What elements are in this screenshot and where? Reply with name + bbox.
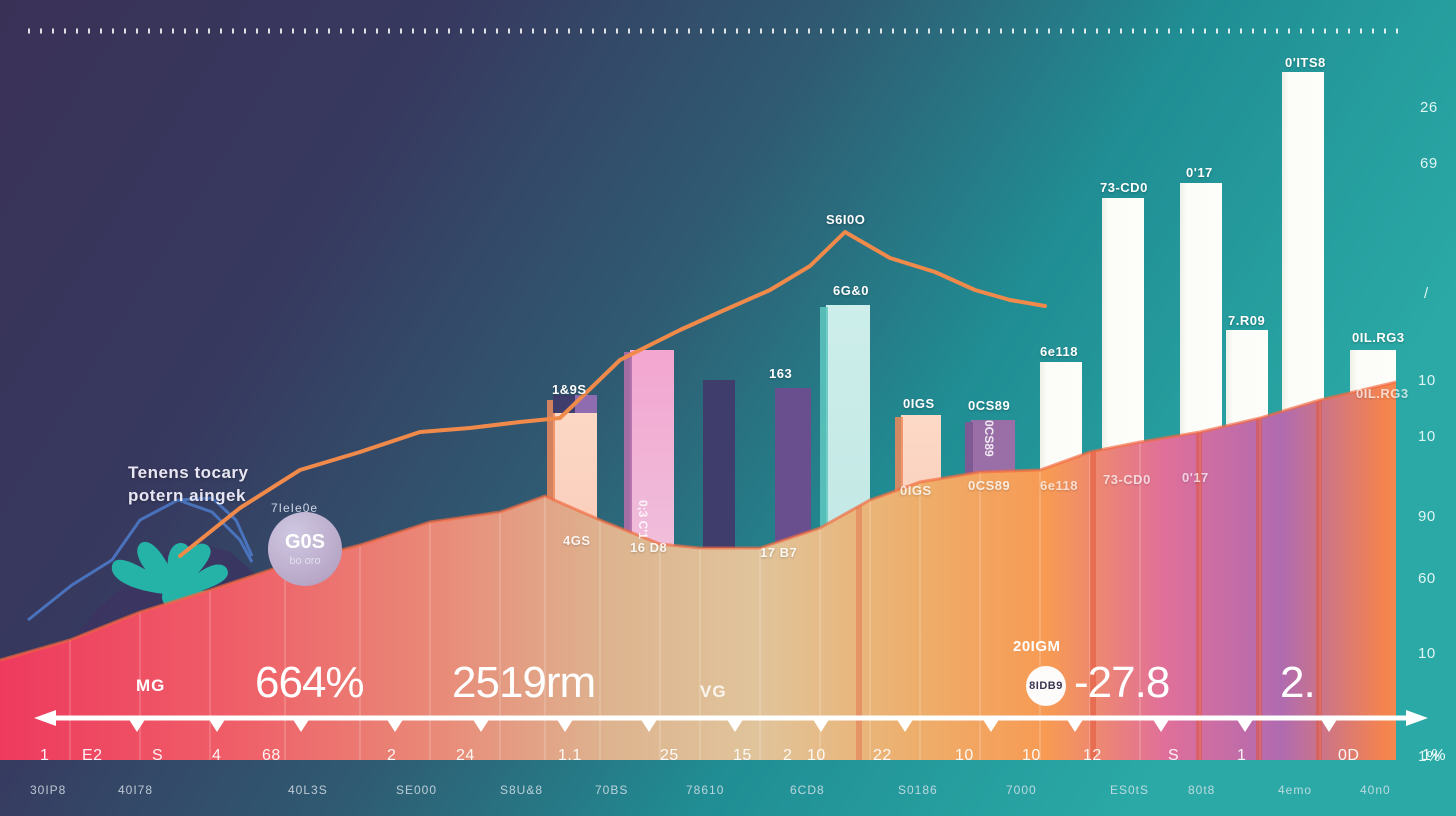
inline-badge-label: 8IDB9: [1029, 680, 1063, 692]
annotation-line-1: Tenens tocary: [128, 462, 249, 485]
axis-bottom-tick-0: 1: [40, 747, 49, 765]
axis-bottom-sublabel-6: 78610: [686, 783, 724, 797]
axis-right-tick-6: 60: [1418, 570, 1436, 587]
band-value-6: -27.8: [1074, 658, 1169, 708]
bar-label-7-vertical: 0CS89: [982, 420, 996, 457]
annotation-text: Tenens tocary potern aingek: [128, 462, 249, 508]
chart-canvas: Tenens tocary potern aingek 7IeIe0e G0S …: [0, 0, 1456, 816]
bar-base-label-8: 0'17: [1182, 470, 1209, 485]
bar-base-label-2: 16 D8: [630, 540, 667, 555]
kpi-badge[interactable]: G0S bo oro: [268, 512, 342, 586]
axis-bottom-sublabel-5: 70BS: [595, 783, 628, 797]
bottom-axis: [0, 0, 1456, 816]
bar-label-2-vertical: 0;3 C'1: [636, 500, 650, 539]
bar-base-label-9: 0IL.RG3: [1356, 386, 1409, 401]
bar-base-label-4: 0IGS: [900, 483, 932, 498]
axis-bottom-sublabel-1: 40I78: [118, 783, 153, 797]
axis-bottom-tick-16: S: [1168, 747, 1179, 765]
axis-bottom-tick-2: S: [152, 747, 163, 765]
axis-bottom-tick-8: 25: [660, 747, 679, 765]
bar-label-5: 6G&0: [833, 283, 869, 298]
axis-bottom-sublabel-12: 4emo: [1278, 783, 1312, 797]
bar-base-label-3: 17 B7: [760, 545, 797, 560]
axis-right-tick-7: 10: [1418, 645, 1436, 662]
axis-bottom-tick-4: 68: [262, 747, 281, 765]
band-value-4: VG: [700, 682, 727, 702]
axis-right-tick-3: 10: [1418, 372, 1436, 389]
axis-bottom-sublabel-8: S0186: [898, 783, 938, 797]
axis-bottom-tick-7: 1.1: [558, 747, 582, 765]
bar-label-7: 0CS89: [968, 398, 1010, 413]
bar-label-11: 7.R09: [1228, 313, 1265, 328]
axis-bottom-tick-13: 10: [955, 747, 974, 765]
bar-label-1: 1&9S: [552, 382, 587, 397]
bar-label-10: 0'17: [1186, 165, 1213, 180]
axis-bottom-tick-6: 24: [456, 747, 475, 765]
axis-bottom-sublabel-2: 40L3S: [288, 783, 328, 797]
axis-bottom-tick-12: 22: [873, 747, 892, 765]
kpi-badge-sub: bo oro: [289, 555, 320, 567]
axis-bottom-tick-3: 4: [212, 747, 221, 765]
bar-base-label-1: 4GS: [563, 533, 591, 548]
bar-label-8: 6e118: [1040, 344, 1078, 359]
axis-bottom-tick-18: 0D: [1338, 747, 1359, 765]
bar-label-6: 0IGS: [903, 396, 935, 411]
band-value-2: 664%: [255, 658, 364, 708]
axis-bottom-sublabel-7: 6CD8: [790, 783, 825, 797]
bar-label-13: 0IL.RG3: [1352, 330, 1405, 345]
bar-base-label-6: 6e118: [1040, 478, 1078, 493]
axis-bottom-tick-14: 10: [1022, 747, 1041, 765]
axis-bottom-sublabel-11: 80t8: [1188, 783, 1215, 797]
axis-right-tick-2: /: [1424, 285, 1429, 302]
axis-bottom-tick-19: 1%: [1422, 747, 1446, 765]
axis-bottom-sublabel-13: 40n0: [1360, 783, 1391, 797]
axis-bottom-tick-1: E2: [82, 747, 103, 765]
axis-bottom-tick-11: 10: [807, 747, 826, 765]
band-value-5: 20IGM: [1013, 638, 1061, 655]
bar-label-12: 0'ITS8: [1285, 55, 1326, 70]
inline-badge[interactable]: 8IDB9: [1026, 666, 1066, 706]
axis-right-tick-5: 90: [1418, 508, 1436, 525]
bar-base-label-5: 0CS89: [968, 478, 1010, 493]
kpi-badge-value: G0S: [285, 531, 325, 554]
axis-bottom-tick-5: 2: [387, 747, 396, 765]
annotation-line-2: potern aingek: [128, 485, 249, 508]
axis-bottom-tick-10: 2: [783, 747, 792, 765]
axis-right-tick-1: 69: [1420, 155, 1438, 172]
axis-bottom-sublabel-9: 7000: [1006, 783, 1037, 797]
axis-right-tick-0: 26: [1420, 99, 1438, 116]
axis-right-tick-4: 10: [1418, 428, 1436, 445]
axis-bottom-sublabel-4: S8U&8: [500, 783, 543, 797]
axis-bottom-tick-17: 1: [1237, 747, 1246, 765]
bar-base-label-7: 73-CD0: [1103, 472, 1151, 487]
axis-bottom-sublabel-3: SE000: [396, 783, 437, 797]
band-value-3: 2519rm: [452, 658, 595, 708]
axis-bottom-sublabel-0: 30IP8: [30, 783, 66, 797]
band-value-7: 2.: [1280, 658, 1315, 708]
axis-bottom-tick-15: 12: [1083, 747, 1102, 765]
line-peak-label: S6I0O: [826, 212, 865, 227]
axis-bottom-sublabel-10: ES0tS: [1110, 783, 1149, 797]
bar-label-9: 73-CD0: [1100, 180, 1148, 195]
axis-bottom-tick-9: 15: [733, 747, 752, 765]
band-value-1: MG: [136, 676, 165, 696]
bar-label-4: 163: [769, 366, 792, 381]
